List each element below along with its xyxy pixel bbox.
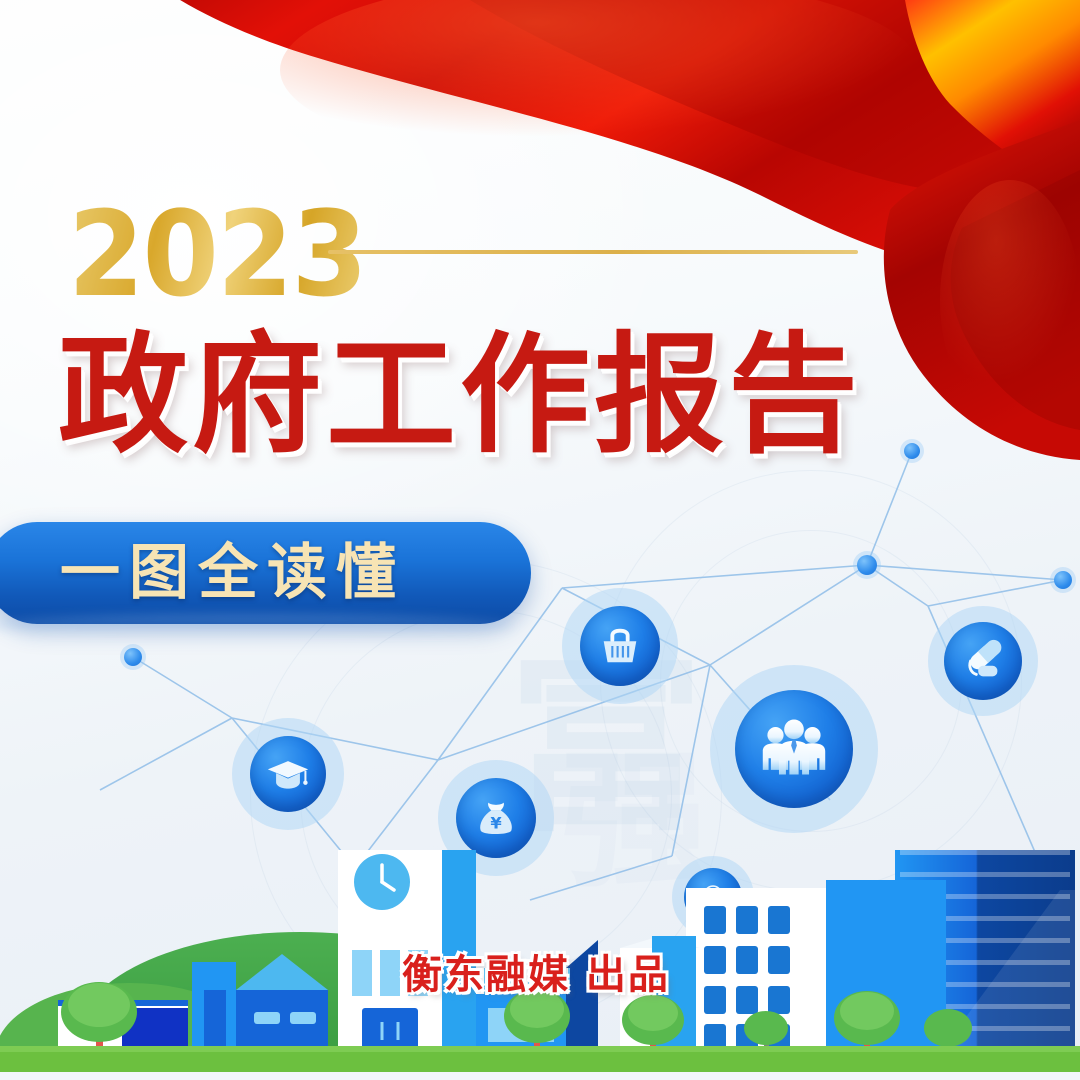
poster-canvas: 富 强 xyxy=(0,0,1080,1080)
money-bag-icon: ¥ xyxy=(456,778,536,858)
network-node-people[interactable] xyxy=(710,665,878,833)
network-dot xyxy=(124,648,142,666)
network-node-healthcare[interactable] xyxy=(928,606,1038,716)
network-dot xyxy=(1054,571,1072,589)
clock-tower-door xyxy=(362,1008,418,1052)
pill-capsule-icon xyxy=(944,622,1022,700)
producer-credit: 衡东融媒 出品 xyxy=(402,942,670,1000)
network-dot xyxy=(904,443,920,459)
shopping-basket-icon xyxy=(580,606,660,686)
svg-text:¥: ¥ xyxy=(490,814,502,833)
people-group-icon xyxy=(735,690,853,808)
graduation-cap-icon xyxy=(250,736,326,812)
network-node-shopping[interactable] xyxy=(562,588,678,704)
network-node-education[interactable] xyxy=(232,718,344,830)
network-dot xyxy=(857,555,877,575)
